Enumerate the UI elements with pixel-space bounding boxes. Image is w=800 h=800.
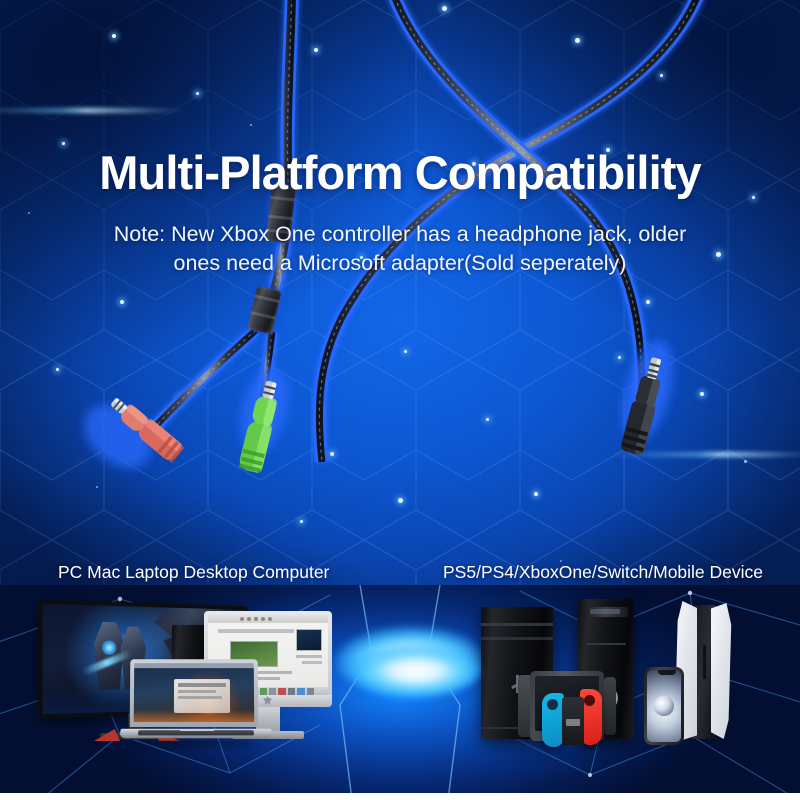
bottom-white-strip (0, 793, 800, 800)
trrs-4-pole-jack (610, 335, 683, 458)
caption-console-devices: PS5/PS4/XboxOne/Switch/Mobile Device (443, 562, 763, 583)
cable-split-to-mic (150, 330, 256, 432)
product-marketing-poster: Multi-Platform Compatibility Note: New X… (0, 0, 800, 800)
compatibility-note: Note: New Xbox One controller has a head… (60, 220, 740, 277)
caption-pc-devices: PC Mac Laptop Desktop Computer (58, 562, 329, 583)
headset-cable-illustration (0, 0, 800, 800)
cable-y-splitter-box (247, 286, 281, 334)
headphone-3-5mm-jack (228, 363, 296, 476)
mic-3-5mm-jack (72, 385, 185, 494)
page-title: Multi-Platform Compatibility (0, 145, 800, 200)
note-line-1: Note: New Xbox One controller has a head… (114, 222, 686, 246)
note-line-2: ones need a Microsoft adapter(Sold seper… (60, 249, 740, 278)
